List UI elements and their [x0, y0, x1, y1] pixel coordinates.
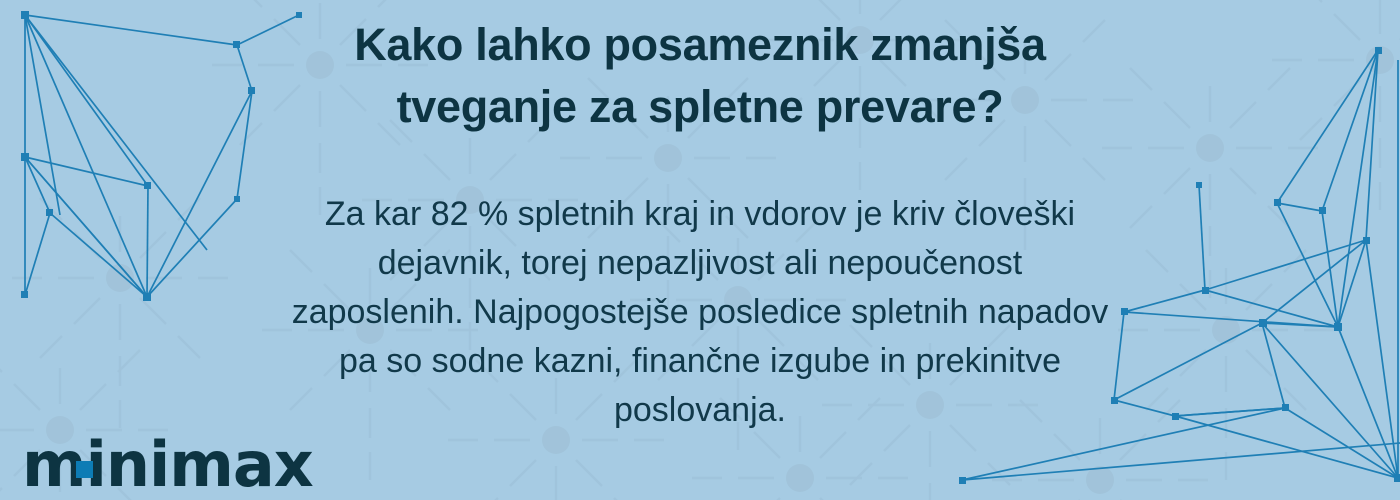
body-line-4: pa so sodne kazni, finančne izgube in pr…: [200, 337, 1200, 386]
page-title: Kako lahko posameznik zmanjša tveganje z…: [330, 14, 1070, 138]
headline-line-2: tveganje za spletne prevare?: [330, 76, 1070, 138]
body-paragraph: Za kar 82 % spletnih kraj in vdorov je k…: [200, 190, 1200, 435]
marketing-banner: Kako lahko posameznik zmanjša tveganje z…: [0, 0, 1400, 500]
body-line-3: zaposlenih. Najpogostejše posledice sple…: [200, 288, 1200, 337]
logo-wordmark: minimax: [22, 434, 313, 496]
banner-content: Kako lahko posameznik zmanjša tveganje z…: [0, 0, 1400, 500]
body-line-1: Za kar 82 % spletnih kraj in vdorov je k…: [200, 190, 1200, 239]
body-line-5: poslovanja.: [200, 386, 1200, 435]
body-line-2: dejavnik, torej nepazljivost ali nepouče…: [200, 239, 1200, 288]
logo-accent-square-icon: [76, 461, 93, 478]
headline-line-1: Kako lahko posameznik zmanjša: [330, 14, 1070, 76]
minimax-logo[interactable]: minimax: [22, 430, 313, 496]
